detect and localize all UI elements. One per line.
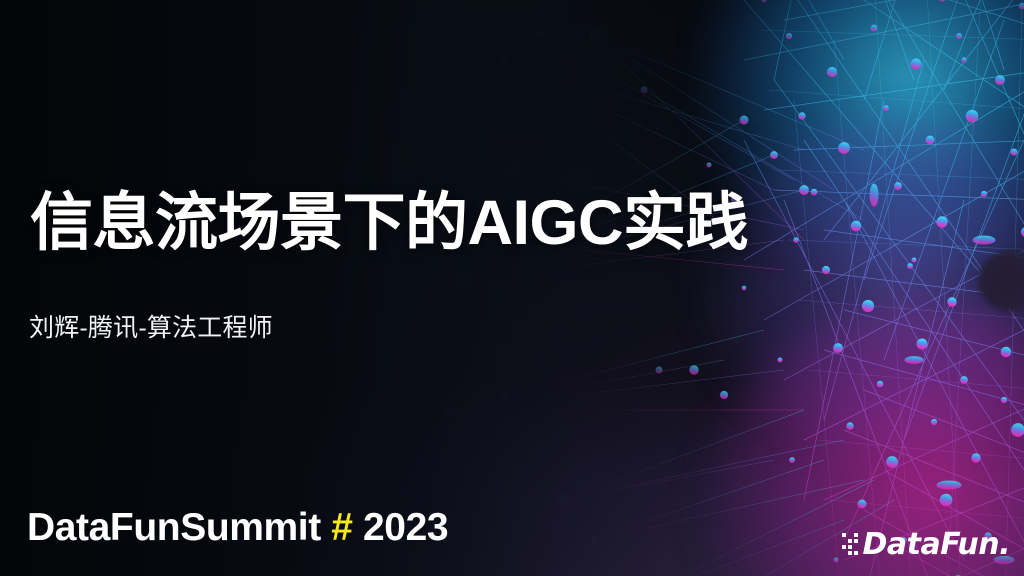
datafun-logo-text: DataFun. [863, 530, 1010, 560]
event-branding: DataFunSummit # 2023 [27, 506, 448, 550]
event-year: 2023 [363, 506, 448, 549]
datafun-logo: DataFun. [842, 528, 1010, 562]
event-hash-symbol: # [331, 506, 352, 549]
page-title: 信息流场景下的AIGC实践 [30, 188, 748, 259]
speaker-byline: 刘辉-腾讯-算法工程师 [29, 308, 273, 344]
presentation-title-slide: 信息流场景下的AIGC实践 刘辉-腾讯-算法工程师 DataFunSummit … [0, 0, 1024, 576]
pixel-dots-icon [842, 533, 858, 555]
network-node-graphic [444, 0, 1024, 576]
event-brand-name: DataFunSummit [27, 506, 321, 549]
